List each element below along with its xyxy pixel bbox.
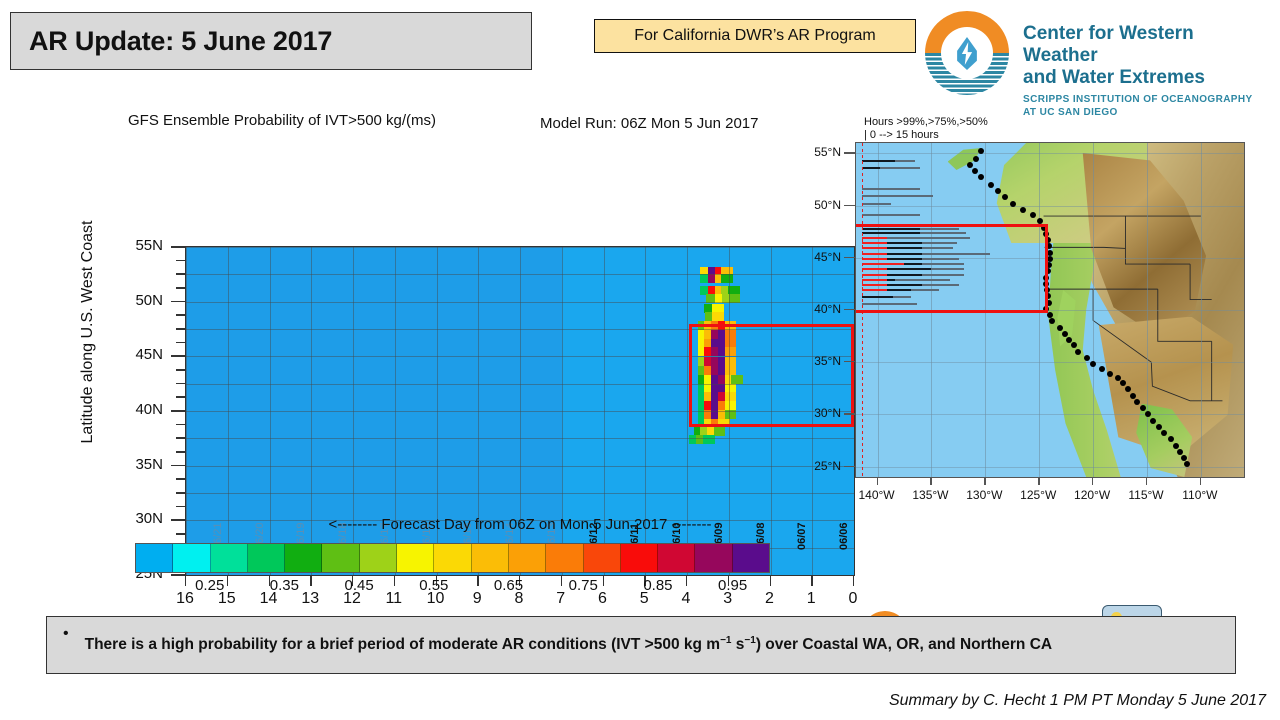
map-coast-dot [1173, 443, 1179, 449]
colorbar-tick-label: 0.55 [409, 577, 459, 594]
map-coast-dot [1156, 424, 1162, 430]
hovmoller-gridline-h [186, 493, 854, 494]
map-x-tick-label: 130°W [960, 488, 1008, 502]
map-coast-dot [1130, 393, 1136, 399]
hovmoller-cell [712, 312, 724, 321]
map-x-tick [1146, 478, 1147, 485]
map-y-tick-label: 35°N [797, 354, 841, 368]
hovmoller-gridline-h [186, 466, 854, 467]
cw3e-logo-mark [925, 11, 1009, 95]
map-x-tick [984, 478, 985, 485]
colorbar-segment [434, 544, 471, 572]
map-y-tick [844, 466, 855, 467]
map-x-tick [930, 478, 931, 485]
hovmoller-y-tick [171, 355, 185, 357]
map-coast-dot [1075, 349, 1081, 355]
hovmoller-y-tick-label: 35N [103, 456, 163, 473]
colorbar-segment [173, 544, 210, 572]
bullet-text-part-b: s [731, 636, 744, 653]
map-y-tick [844, 361, 855, 362]
page-title: AR Update: 5 June 2017 [11, 26, 332, 57]
map-coast-dot [988, 182, 994, 188]
hovmoller-y-tick [176, 342, 185, 344]
hovmoller-title: GFS Ensemble Probability of IVT>500 kg/(… [128, 112, 436, 129]
cw3e-logo-header: Center for Western Weather and Water Ext… [925, 5, 1275, 100]
hovmoller-y-tick [176, 533, 185, 535]
hovmoller-y-tick [176, 383, 185, 385]
bullet-sup-2: −1 [744, 635, 755, 646]
summary-bullet-text: There is a high probability for a brief … [85, 634, 1070, 657]
colorbar-segment [584, 544, 621, 572]
slide-title-box: AR Update: 5 June 2017 [10, 12, 532, 70]
colorbar-segment [658, 544, 695, 572]
cw3e-title-line1: Center for Western Weather [1023, 23, 1273, 67]
hovmoller-cell [714, 427, 726, 436]
hovmoller-y-tick-label: 55N [103, 237, 163, 254]
hovmoller-gridline-h [186, 247, 854, 248]
colorbar-segment [248, 544, 285, 572]
map-coast-dot [1010, 201, 1016, 207]
hovmoller-y-tick-label: 40N [103, 401, 163, 418]
hovmoller-y-tick [176, 396, 185, 398]
map-ar-hour-bar [862, 160, 895, 162]
map-y-tick [844, 257, 855, 258]
colorbar-segment [285, 544, 322, 572]
cw3e-sub-line1: SCRIPPS INSTITUTION OF OCEANOGRAPHY [1023, 94, 1273, 107]
hovmoller-y-tick [171, 246, 185, 248]
map-coast-dot [1057, 325, 1063, 331]
program-note-text: For California DWR’s AR Program [634, 27, 876, 45]
map-x-tick-label: 120°W [1068, 488, 1116, 502]
map-legend-line2: | 0 --> 15 hours [864, 129, 939, 141]
hovmoller-y-tick [176, 314, 185, 316]
cw3e-title-line2: and Water Extremes [1023, 67, 1273, 89]
hovmoller-y-tick-label: 50N [103, 292, 163, 309]
colorbar-tick-label: 0.75 [558, 577, 608, 594]
map-x-tick-label: 125°W [1014, 488, 1062, 502]
colorbar-tick-label: 0.65 [484, 577, 534, 594]
map-legend-line1: Hours >99%,>75%,>50% [864, 116, 988, 128]
colorbar-segment [546, 544, 583, 572]
hovmoller-gridline-h [186, 302, 854, 303]
colorbar-tick-label: 0.35 [259, 577, 309, 594]
map-coast-dot [1047, 250, 1053, 256]
model-run-label: Model Run: 06Z Mon 5 Jun 2017 [540, 115, 758, 132]
colorbar-segment [360, 544, 397, 572]
probability-colorbar [135, 543, 770, 573]
hovmoller-x-tick-label: 1 [796, 590, 826, 608]
map-gridline-h [856, 153, 1244, 154]
program-note-box: For California DWR’s AR Program [594, 19, 916, 53]
hovmoller-y-tick [171, 301, 185, 303]
hovmoller-y-tick [176, 492, 185, 494]
summary-bullet-box: • There is a high probability for a brie… [46, 616, 1236, 674]
bullet-marker: • [47, 625, 85, 643]
colorbar-segment [695, 544, 732, 572]
hovmoller-y-tick [176, 287, 185, 289]
hovmoller-y-tick [176, 478, 185, 480]
hovmoller-y-tick [176, 437, 185, 439]
map-coast-dot [1125, 386, 1131, 392]
hovmoller-y-tick [176, 424, 185, 426]
hovmoller-y-tick [176, 328, 185, 330]
map-coast-dot [1084, 355, 1090, 361]
hovmoller-panel: GFS Ensemble Probability of IVT>500 kg/(… [46, 108, 816, 508]
bullet-text-part-a: There is a high probability for a brief … [85, 636, 720, 653]
cw3e-logo-text: Center for Western Weather and Water Ext… [1023, 23, 1273, 120]
map-x-tick [1200, 478, 1201, 485]
map-y-tick-label: 55°N [797, 145, 841, 159]
hovmoller-y-tick [176, 260, 185, 262]
map-ar-hour-bar [862, 195, 932, 197]
hovmoller-y-tick [176, 273, 185, 275]
colorbar-segment [733, 544, 769, 572]
colorbar-segment [136, 544, 173, 572]
colorbar-segment [472, 544, 509, 572]
map-x-tick [877, 478, 878, 485]
hovmoller-y-tick [176, 506, 185, 508]
map-y-tick [844, 309, 855, 310]
map-coast-dot [972, 168, 978, 174]
colorbar-segment [322, 544, 359, 572]
hovmoller-y-tick [171, 519, 185, 521]
colorbar-segment [509, 544, 546, 572]
map-highlight-box [855, 224, 1048, 313]
map-x-tick [1038, 478, 1039, 485]
colorbar-tick-labels: 0.250.350.450.550.650.750.850.95 [135, 577, 770, 599]
map-x-tick-label: 110°W [1176, 488, 1224, 502]
colorbar-segment [397, 544, 434, 572]
map-coast-dot [1002, 194, 1008, 200]
map-coast-dot [1030, 212, 1036, 218]
map-gridline-h [856, 362, 1244, 363]
hovmoller-x-tick [853, 576, 854, 586]
map-coast-dot [1047, 256, 1053, 262]
map-ar-hour-bar [862, 214, 919, 216]
hovmoller-x-axis-label: <-------- Forecast Day from 06Z on Mon 5… [185, 516, 855, 533]
colorbar-tick-label: 0.25 [185, 577, 235, 594]
map-ar-hour-bar [862, 203, 891, 205]
hovmoller-y-tick-label: 45N [103, 346, 163, 363]
map-x-tick-label: 135°W [906, 488, 954, 502]
colorbar-tick-label: 0.95 [708, 577, 758, 594]
hovmoller-y-tick [176, 369, 185, 371]
colorbar-segment [211, 544, 248, 572]
hovmoller-y-tick [171, 410, 185, 412]
colorbar-tick-label: 0.85 [633, 577, 683, 594]
map-y-tick-label: 40°N [797, 302, 841, 316]
hovmoller-y-tick-label: 30N [103, 510, 163, 527]
hovmoller-cell [721, 274, 733, 283]
colorbar-tick-label: 0.45 [334, 577, 384, 594]
map-coast-dot [1020, 207, 1026, 213]
map-y-tick [844, 205, 855, 206]
hovmoller-gridline-h [186, 438, 854, 439]
map-ar-hour-bar [862, 167, 880, 169]
hovmoller-x-tick [811, 576, 812, 586]
map-ar-hour-bar [862, 188, 919, 190]
map-x-tick-label: 140°W [853, 488, 901, 502]
hovmoller-y-axis-label: Latitude along U.S. West Coast [79, 182, 97, 482]
ar-hours-map-panel: Hours >99%,>75%,>50% | 0 --> 15 hours 55… [822, 108, 1252, 508]
hovmoller-y-tick [176, 451, 185, 453]
hovmoller-gridline-h [186, 274, 854, 275]
map-y-tick-label: 25°N [797, 459, 841, 473]
map-y-tick [844, 413, 855, 414]
hovmoller-cell [703, 435, 715, 444]
hovmoller-y-tick [171, 574, 185, 576]
summary-credit: Summary by C. Hecht 1 PM PT Monday 5 Jun… [0, 692, 1266, 710]
bullet-sup-1: −1 [720, 635, 731, 646]
map-gridline-h [856, 206, 1244, 207]
map-x-tick [1092, 478, 1093, 485]
colorbar-segment [621, 544, 658, 572]
map-coast-dot [1140, 405, 1146, 411]
bullet-text-part-c: ) over Coastal WA, OR, and Northern CA [756, 636, 1052, 653]
map-gridline-h [856, 414, 1244, 415]
map-coast-dot [1181, 455, 1187, 461]
map-y-tick-label: 50°N [797, 198, 841, 212]
map-x-tick-label: 115°W [1122, 488, 1170, 502]
hovmoller-y-tick [171, 465, 185, 467]
map-y-tick-label: 30°N [797, 406, 841, 420]
map-y-tick-label: 45°N [797, 250, 841, 264]
hovmoller-cell [712, 304, 724, 313]
map-y-tick [844, 152, 855, 153]
map-coast-dot [973, 156, 979, 162]
map-plot-area[interactable] [855, 142, 1245, 478]
